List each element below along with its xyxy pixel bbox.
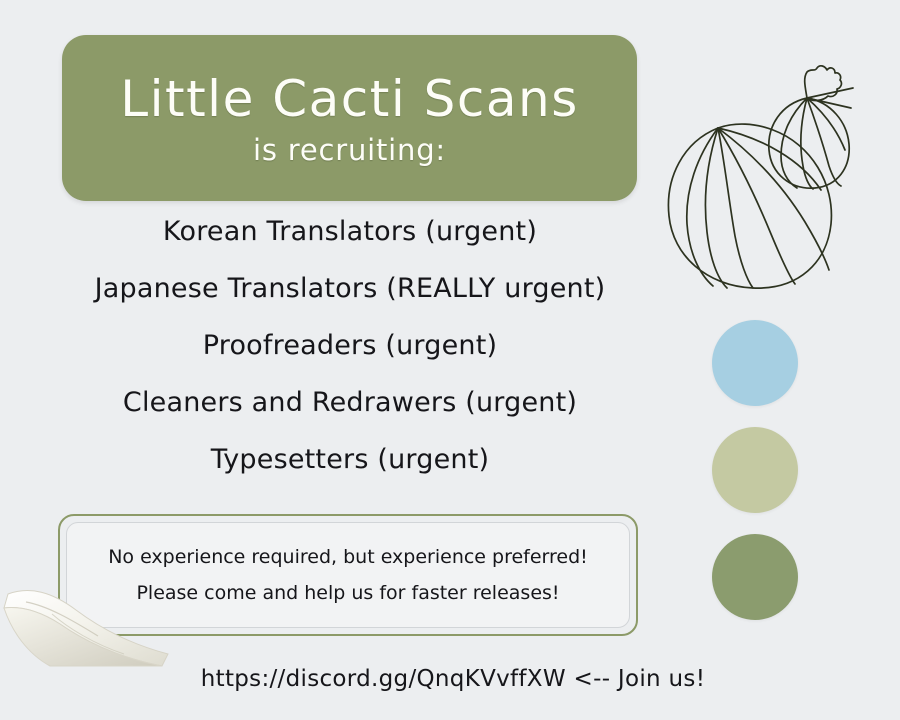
note-line-experience: No experience required, but experience p…	[108, 548, 588, 567]
swatch-light-blue	[712, 320, 798, 406]
cactus-icon	[655, 38, 890, 293]
role-item: Typesetters (urgent)	[211, 446, 489, 473]
recruitment-poster: Little Cacti Scans is recruiting: Korean…	[0, 0, 900, 720]
swatch-sage	[712, 427, 798, 513]
roles-list: Korean Translators (urgent) Japanese Tra…	[0, 218, 700, 473]
role-item: Japanese Translators (REALLY urgent)	[95, 275, 606, 302]
note-line-invitation: Please come and help us for faster relea…	[136, 584, 559, 603]
note-box: No experience required, but experience p…	[58, 514, 638, 636]
role-item: Cleaners and Redrawers (urgent)	[123, 389, 577, 416]
note-box-inner: No experience required, but experience p…	[66, 522, 630, 628]
role-item: Korean Translators (urgent)	[163, 218, 537, 245]
banner-subtitle: is recruiting:	[253, 135, 446, 167]
discord-invite-link[interactable]: https://discord.gg/QnqKVvffXW <-- Join u…	[0, 668, 900, 691]
group-title: Little Cacti Scans	[120, 73, 579, 126]
header-banner: Little Cacti Scans is recruiting:	[62, 35, 637, 201]
swatch-olive	[712, 534, 798, 620]
role-item: Proofreaders (urgent)	[203, 332, 497, 359]
color-swatches	[712, 320, 808, 620]
